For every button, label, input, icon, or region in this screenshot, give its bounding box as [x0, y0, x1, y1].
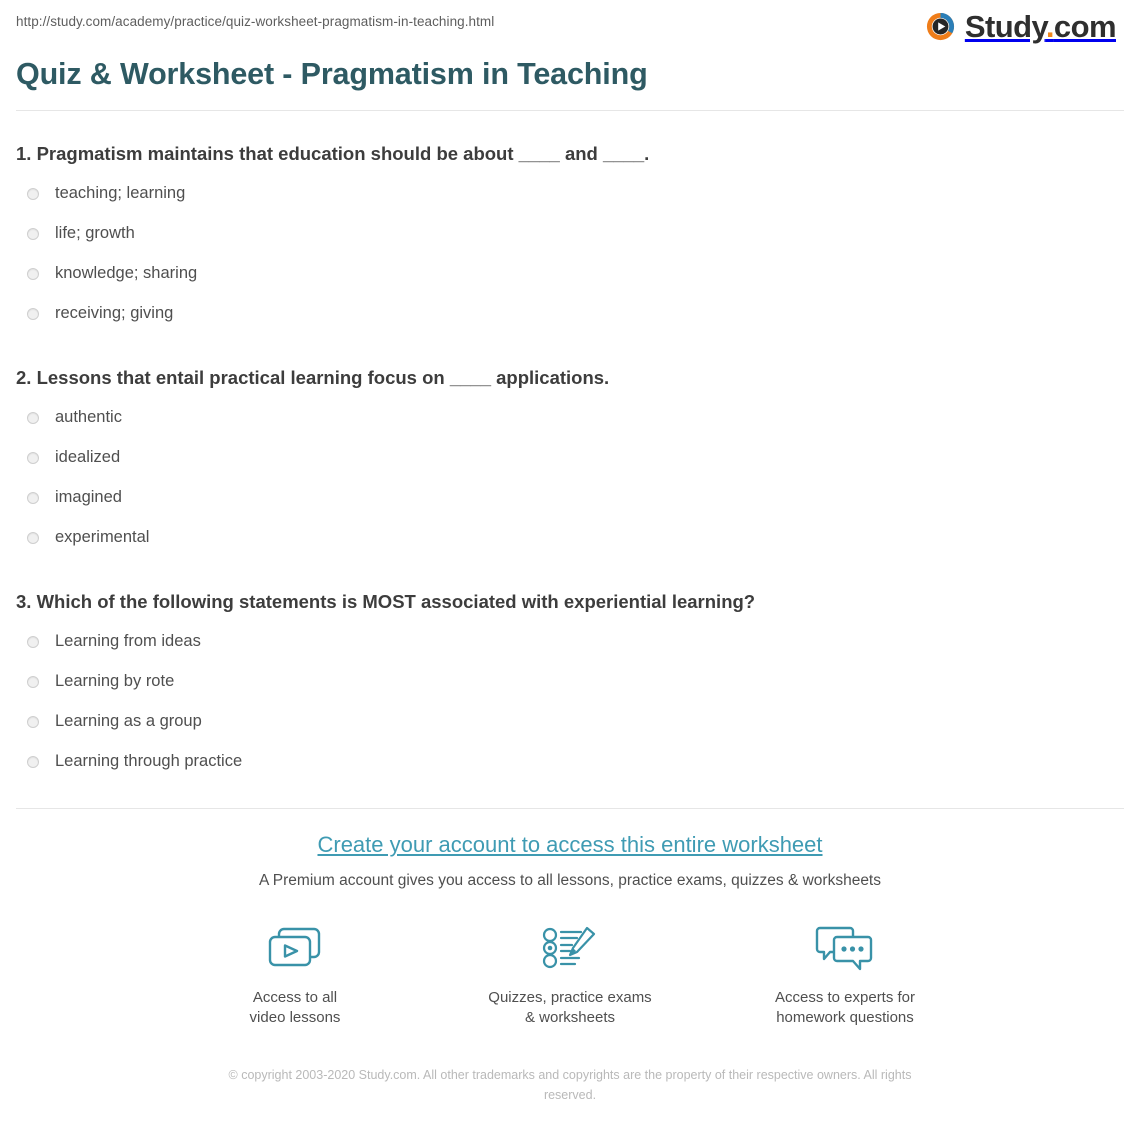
radio-button-icon[interactable]: [27, 716, 39, 728]
option-label: Learning by rote: [55, 672, 174, 692]
quiz-questions-container: 1. Pragmatism maintains that education s…: [0, 142, 1140, 782]
video-lessons-icon: [264, 920, 326, 976]
brand-word-tld: com: [1054, 9, 1116, 44]
feature-quizzes: Quizzes, practice exams & worksheets: [488, 920, 653, 1028]
question-block: 2. Lessons that entail practical learnin…: [16, 366, 1124, 558]
feature-label: Access to experts for homework questions: [775, 988, 915, 1028]
option-label: receiving; giving: [55, 304, 173, 324]
question-text: 3. Which of the following statements is …: [16, 590, 1124, 614]
radio-button-icon[interactable]: [27, 268, 39, 280]
radio-button-icon[interactable]: [27, 228, 39, 240]
brand-word-dot: .: [1046, 9, 1054, 44]
copyright-text: © copyright 2003-2020 Study.com. All oth…: [215, 1066, 925, 1105]
feature-experts: Access to experts for homework questions: [763, 920, 928, 1028]
create-account-cta: Create your account to access this entir…: [0, 809, 1140, 1105]
option-label: teaching; learning: [55, 184, 185, 204]
brand-word-main: Study: [965, 9, 1046, 44]
options-list: authentic idealized imagined experimenta…: [16, 398, 1124, 558]
page-header: http://study.com/academy/practice/quiz-w…: [0, 0, 1140, 42]
option-row[interactable]: authentic: [16, 398, 1124, 438]
option-row[interactable]: receiving; giving: [16, 294, 1124, 334]
brand-wordmark: Study.com: [965, 11, 1116, 42]
question-text: 1. Pragmatism maintains that education s…: [16, 142, 1124, 166]
option-label: experimental: [55, 528, 149, 548]
option-label: imagined: [55, 488, 122, 508]
title-section: Quiz & Worksheet - Pragmatism in Teachin…: [0, 42, 1140, 93]
option-label: Learning through practice: [55, 752, 242, 772]
option-row[interactable]: life; growth: [16, 214, 1124, 254]
feature-label: Access to all video lessons: [250, 988, 341, 1028]
radio-button-icon[interactable]: [27, 492, 39, 504]
question-text: 2. Lessons that entail practical learnin…: [16, 366, 1124, 390]
url-bar-text: http://study.com/academy/practice/quiz-w…: [16, 11, 494, 30]
option-label: Learning from ideas: [55, 632, 201, 652]
option-label: authentic: [55, 408, 122, 428]
quiz-pencil-icon: [539, 920, 601, 976]
option-row[interactable]: Learning as a group: [16, 702, 1124, 742]
page-title: Quiz & Worksheet - Pragmatism in Teachin…: [16, 56, 1124, 93]
radio-button-icon[interactable]: [27, 308, 39, 320]
option-label: idealized: [55, 448, 120, 468]
radio-button-icon[interactable]: [27, 412, 39, 424]
radio-button-icon[interactable]: [27, 188, 39, 200]
options-list: Learning from ideas Learning by rote Lea…: [16, 622, 1124, 782]
option-label: life; growth: [55, 224, 135, 244]
option-row[interactable]: teaching; learning: [16, 174, 1124, 214]
option-row[interactable]: Learning through practice: [16, 742, 1124, 782]
option-row[interactable]: knowledge; sharing: [16, 254, 1124, 294]
cta-subline: A Premium account gives you access to al…: [0, 872, 1140, 891]
create-account-link[interactable]: Create your account to access this entir…: [317, 832, 822, 857]
option-row[interactable]: Learning by rote: [16, 662, 1124, 702]
title-divider: [16, 110, 1124, 111]
option-label: Learning as a group: [55, 712, 202, 732]
radio-button-icon[interactable]: [27, 756, 39, 768]
radio-button-icon[interactable]: [27, 676, 39, 688]
radio-button-icon[interactable]: [27, 452, 39, 464]
option-row[interactable]: experimental: [16, 518, 1124, 558]
option-row[interactable]: imagined: [16, 478, 1124, 518]
question-block: 3. Which of the following statements is …: [16, 590, 1124, 782]
speech-bubbles-icon: [814, 920, 876, 976]
option-row[interactable]: idealized: [16, 438, 1124, 478]
study-com-logo[interactable]: Study.com: [925, 11, 1124, 42]
option-label: knowledge; sharing: [55, 264, 197, 284]
question-block: 1. Pragmatism maintains that education s…: [16, 142, 1124, 334]
play-circle-icon: [925, 11, 956, 42]
options-list: teaching; learning life; growth knowledg…: [16, 174, 1124, 334]
feature-video-lessons: Access to all video lessons: [213, 920, 378, 1028]
radio-button-icon[interactable]: [27, 636, 39, 648]
feature-label: Quizzes, practice exams & worksheets: [488, 988, 651, 1028]
option-row[interactable]: Learning from ideas: [16, 622, 1124, 662]
features-row: Access to all video lessons Quizzes, pra…: [0, 920, 1140, 1028]
radio-button-icon[interactable]: [27, 532, 39, 544]
